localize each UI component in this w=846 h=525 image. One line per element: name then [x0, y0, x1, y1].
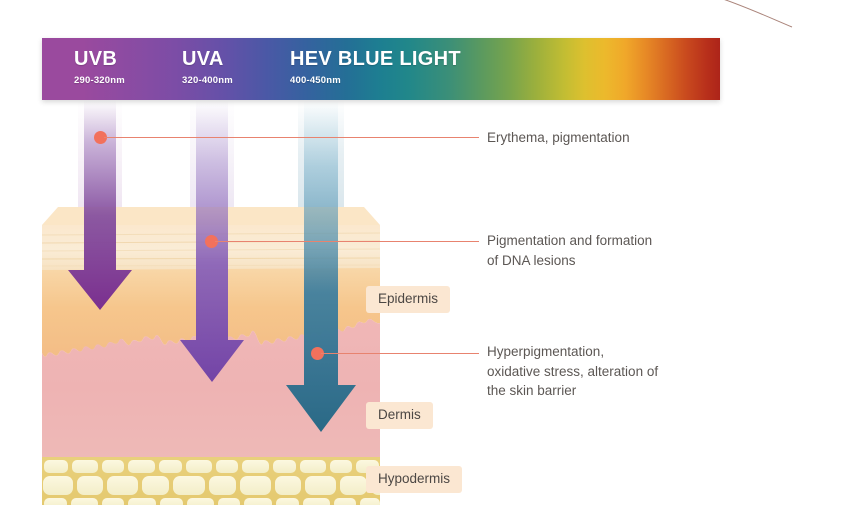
layer-tag-dermis: Dermis — [366, 402, 433, 429]
arrow-hev — [286, 100, 356, 432]
callout-line-pigmentation-dna — [215, 241, 479, 242]
callout-text-hyperpigmentation: Hyperpigmentation, oxidative stress, alt… — [487, 342, 817, 401]
layer-tag-epidermis: Epidermis — [366, 286, 450, 313]
callout-line-erythema — [104, 137, 479, 138]
callout-text-erythema: Erythema, pigmentation — [487, 128, 787, 148]
skin-penetration-figure: UVB 290-320nm UVA 320-400nm HEV BLUE LIG… — [0, 0, 846, 525]
callout-text-pigmentation-dna: Pigmentation and formation of DNA lesion… — [487, 231, 807, 270]
callout-line-hyperpigmentation — [321, 353, 479, 354]
layer-tag-hypodermis: Hypodermis — [366, 466, 462, 493]
